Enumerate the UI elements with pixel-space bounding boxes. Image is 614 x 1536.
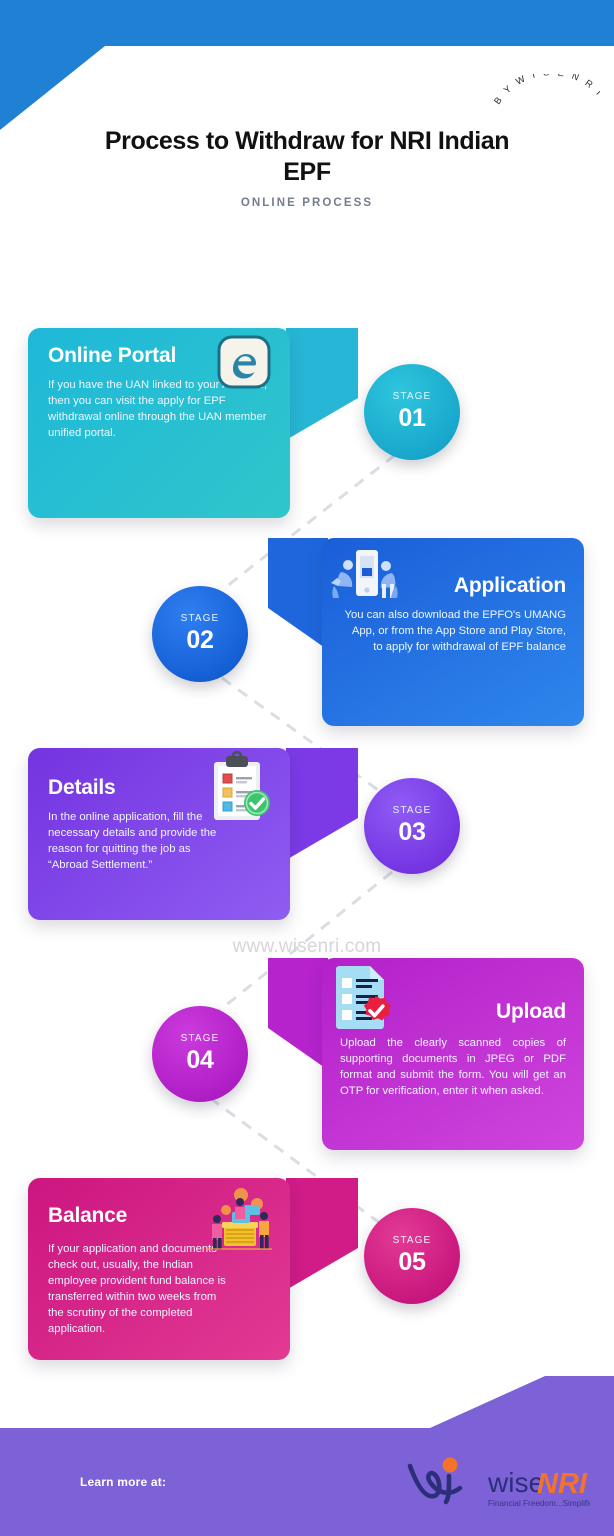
stage-circle-1-label: STAGE: [393, 392, 432, 402]
logo-wise-text: wise: [487, 1467, 544, 1498]
stage-circle-5[interactable]: STAGE 05: [364, 1208, 460, 1304]
stage-circle-4-label: STAGE: [181, 1034, 220, 1044]
logo-dot: [443, 1458, 458, 1473]
stage-circle-2[interactable]: STAGE 02: [152, 586, 248, 682]
document-upload-verified-icon: [326, 960, 398, 1034]
stage-card-4-body: Upload Upload the clearly scanned copies…: [322, 958, 584, 1150]
clipboard-checklist-icon: [202, 750, 276, 826]
stage-circle-1[interactable]: STAGE 01: [364, 364, 460, 460]
logo-tagline-text: Financial Freedom...Simplified: [488, 1499, 590, 1508]
watermark: www.wisenri.com: [0, 936, 614, 958]
stage-card-3-flag: [286, 748, 358, 860]
stage-card-5-text: If your application and documents check …: [48, 1241, 270, 1337]
people-with-money-illustration-icon: [200, 1180, 278, 1254]
stage-card-3-body: Details In the online application, fill …: [28, 748, 290, 920]
wisenri-logo[interactable]: wise NRI Financial Freedom...Simplified: [404, 1452, 590, 1514]
stage-card-5-flag: [286, 1178, 358, 1290]
stage-circle-2-label: STAGE: [181, 614, 220, 624]
stage-circle-1-number: 01: [398, 405, 425, 431]
stage-circle-3[interactable]: STAGE 03: [364, 778, 460, 874]
edge-browser-icon: [216, 334, 272, 390]
stage-circle-3-number: 03: [398, 819, 425, 845]
learn-more-label: Learn more at:: [80, 1475, 166, 1489]
logo-nri-text: NRI: [537, 1468, 588, 1500]
stage-card-5-body: Balance If your application and document…: [28, 1178, 290, 1360]
stage-circle-3-label: STAGE: [393, 806, 432, 816]
stage-circle-4-number: 04: [186, 1047, 213, 1073]
stage-card-4-flag: [268, 958, 328, 1070]
stage-card-1-flag: [286, 328, 358, 440]
infographic-page: B Y W I S E N R I . C O M Process to Wit…: [0, 0, 614, 1536]
mobile-app-illustration-icon: [330, 542, 400, 604]
stage-card-1-body: Online Portal If you have the UAN linked…: [28, 328, 290, 518]
stage-circle-4[interactable]: STAGE 04: [152, 1006, 248, 1102]
stage-circle-5-number: 05: [398, 1249, 425, 1275]
stage-card-1[interactable]: Online Portal If you have the UAN linked…: [28, 328, 290, 518]
stage-card-2-flag: [268, 538, 328, 650]
stage-card-2[interactable]: Application You can also download the EP…: [270, 538, 584, 726]
stage-circle-2-number: 02: [186, 627, 213, 653]
stage-card-4[interactable]: Upload Upload the clearly scanned copies…: [270, 958, 584, 1150]
stage-card-4-text: Upload the clearly scanned copies of sup…: [340, 1035, 566, 1099]
stage-card-2-body: Application You can also download the EP…: [322, 538, 584, 726]
stage-card-5[interactable]: Balance If your application and document…: [28, 1178, 290, 1360]
stage-card-3[interactable]: Details In the online application, fill …: [28, 748, 290, 920]
stage-circle-5-label: STAGE: [393, 1236, 432, 1246]
stage-card-2-text: You can also download the EPFO's UMANG A…: [340, 607, 566, 655]
